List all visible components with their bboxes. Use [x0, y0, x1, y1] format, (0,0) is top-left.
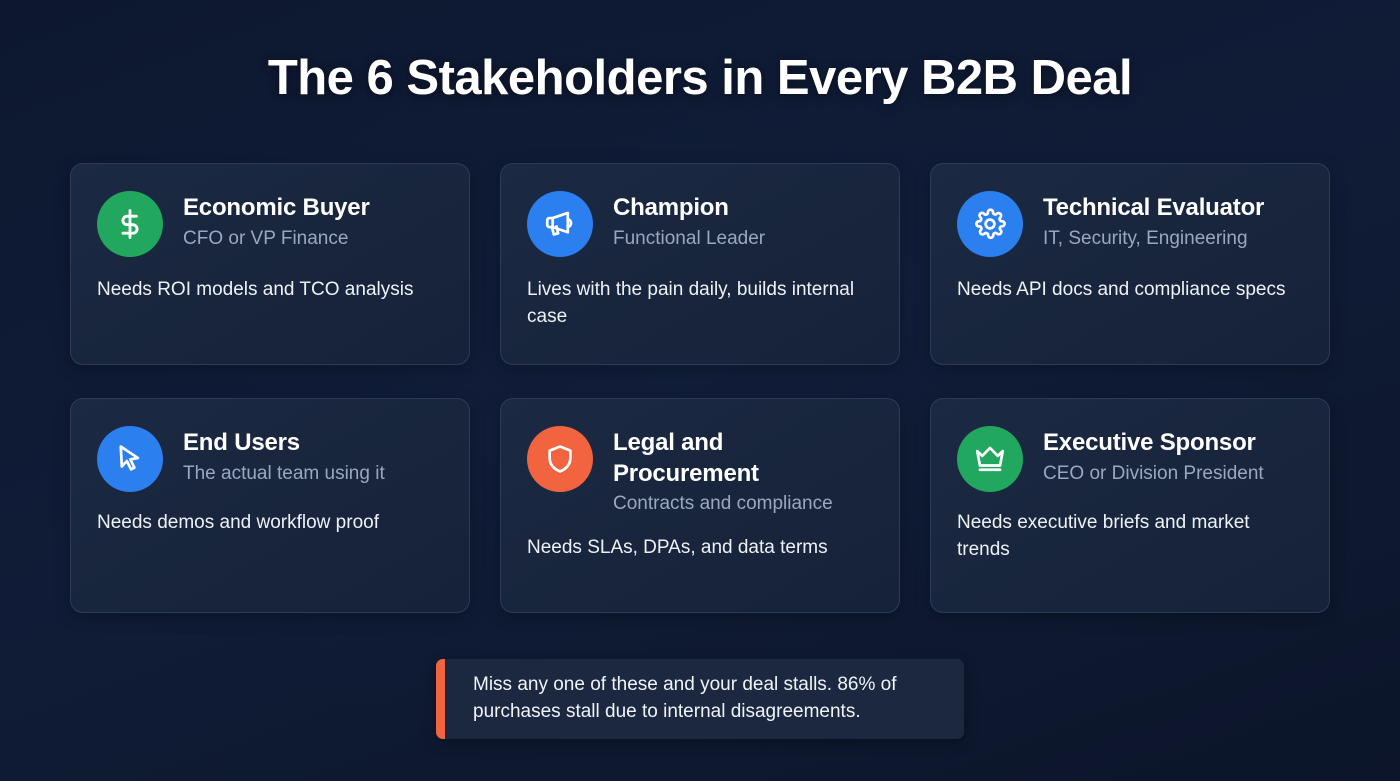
card-header: Champion Functional Leader [527, 190, 875, 257]
card-header-text: Economic Buyer CFO or VP Finance [183, 190, 370, 251]
card-header: Legal and Procurement Contracts and comp… [527, 425, 875, 517]
stakeholder-card-executive-sponsor[interactable]: Executive Sponsor CEO or Division Presid… [930, 398, 1330, 613]
card-header: Technical Evaluator IT, Security, Engine… [957, 190, 1305, 257]
role-need: Lives with the pain daily, builds intern… [527, 277, 875, 331]
role-subtitle: Contracts and compliance [613, 492, 875, 517]
stakeholder-card-champion[interactable]: Champion Functional Leader Lives with th… [500, 163, 900, 365]
role-need: Needs demos and workflow proof [97, 510, 445, 537]
role-need: Needs executive briefs and market trends [957, 510, 1305, 564]
card-header-text: Champion Functional Leader [613, 190, 765, 251]
cursor-icon [97, 426, 163, 492]
slide-canvas: The 6 Stakeholders in Every B2B Deal Eco… [0, 0, 1400, 781]
card-header-text: End Users The actual team using it [183, 425, 385, 486]
stakeholder-card-economic-buyer[interactable]: Economic Buyer CFO or VP Finance Needs R… [70, 163, 470, 365]
role-need: Needs SLAs, DPAs, and data terms [527, 535, 875, 562]
role-subtitle: CFO or VP Finance [183, 227, 370, 252]
role-name: Technical Evaluator [1043, 193, 1264, 224]
megaphone-icon [527, 191, 593, 257]
page-title: The 6 Stakeholders in Every B2B Deal [0, 50, 1400, 106]
stakeholder-card-grid: Economic Buyer CFO or VP Finance Needs R… [70, 163, 1330, 613]
card-header-text: Executive Sponsor CEO or Division Presid… [1043, 425, 1264, 486]
gear-icon [957, 191, 1023, 257]
card-header: Executive Sponsor CEO or Division Presid… [957, 425, 1305, 492]
role-subtitle: Functional Leader [613, 227, 765, 252]
role-name: Legal and Procurement [613, 428, 875, 489]
role-need: Needs ROI models and TCO analysis [97, 277, 445, 304]
role-name: Economic Buyer [183, 193, 370, 224]
card-header-text: Legal and Procurement Contracts and comp… [613, 425, 875, 517]
footer-callout: Miss any one of these and your deal stal… [436, 659, 964, 739]
role-subtitle: The actual team using it [183, 462, 385, 487]
stakeholder-card-technical-evaluator[interactable]: Technical Evaluator IT, Security, Engine… [930, 163, 1330, 365]
card-header: Economic Buyer CFO or VP Finance [97, 190, 445, 257]
role-subtitle: CEO or Division President [1043, 462, 1264, 487]
card-header-text: Technical Evaluator IT, Security, Engine… [1043, 190, 1264, 251]
role-name: Executive Sponsor [1043, 428, 1264, 459]
callout-accent-bar [436, 659, 445, 739]
stakeholder-card-end-users[interactable]: End Users The actual team using it Needs… [70, 398, 470, 613]
callout-text: Miss any one of these and your deal stal… [445, 659, 964, 739]
role-name: End Users [183, 428, 385, 459]
dollar-icon [97, 191, 163, 257]
card-header: End Users The actual team using it [97, 425, 445, 492]
shield-icon [527, 426, 593, 492]
stakeholder-card-legal-and-procurement[interactable]: Legal and Procurement Contracts and comp… [500, 398, 900, 613]
role-need: Needs API docs and compliance specs [957, 277, 1305, 304]
role-name: Champion [613, 193, 765, 224]
crown-icon [957, 426, 1023, 492]
role-subtitle: IT, Security, Engineering [1043, 227, 1264, 252]
